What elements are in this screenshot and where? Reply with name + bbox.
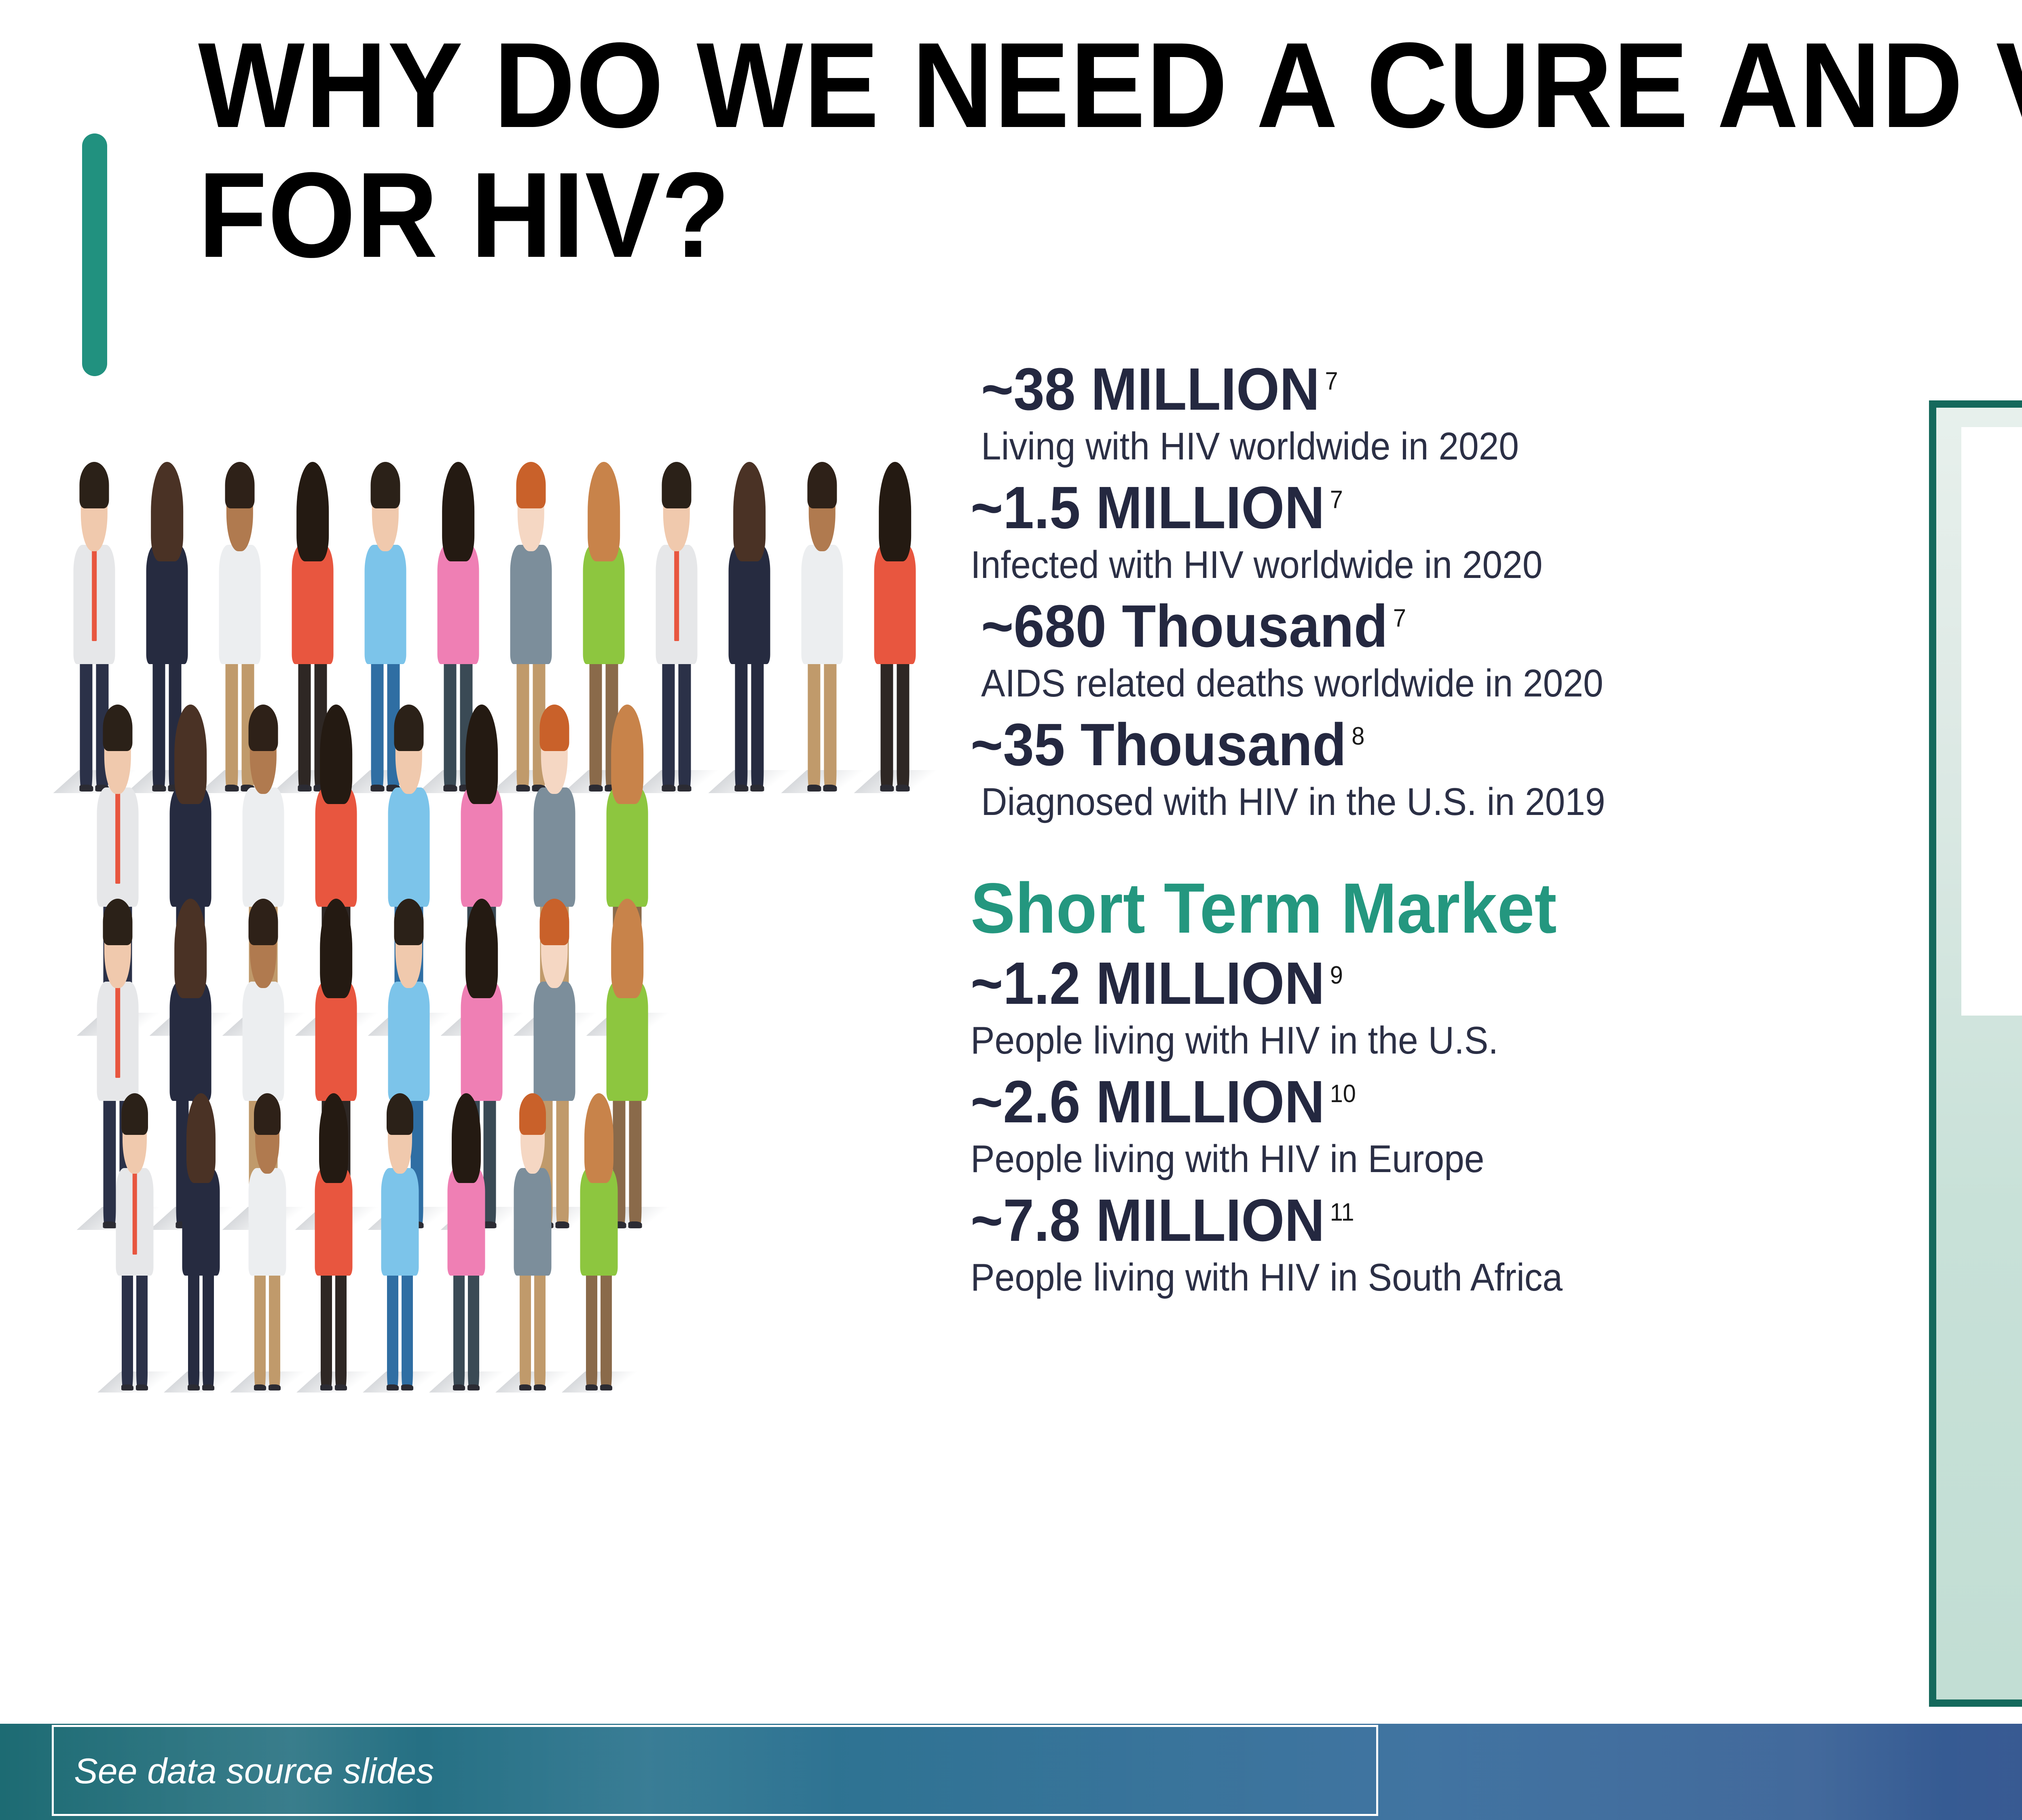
stat-caption: People living with HIV in the U.S. xyxy=(971,1017,1881,1064)
shoe xyxy=(453,1384,465,1390)
necktie xyxy=(115,985,120,1078)
stat-caption: AIDS related deaths worldwide in 2020 xyxy=(981,660,1881,707)
figure-torso xyxy=(249,1168,286,1276)
figure-legs xyxy=(121,1270,148,1389)
figure-torso xyxy=(510,545,552,664)
figure-torso xyxy=(381,1168,419,1276)
shoe xyxy=(121,1384,133,1390)
figure-hair xyxy=(394,899,423,945)
art-panel-caption: HIV can be controlled with antiretrovira… xyxy=(1985,1467,2022,1612)
stats-column: ~38 MILLION7 Living with HIV worldwide i… xyxy=(971,356,1949,1306)
figure-torso xyxy=(243,787,284,907)
footer-note-box: See data source slides xyxy=(52,1725,1378,1816)
figure-torso xyxy=(243,982,284,1101)
leg xyxy=(136,1270,148,1389)
figure-legs xyxy=(519,1270,546,1389)
stat-block-global-0: ~38 MILLION7 Living with HIV worldwide i… xyxy=(971,356,1949,470)
figure-hair xyxy=(452,1093,481,1183)
shoe xyxy=(678,785,692,791)
stat-caption: Living with HIV worldwide in 2020 xyxy=(981,423,1881,470)
person-figure xyxy=(861,465,929,797)
necktie xyxy=(133,1171,137,1255)
figure-hair xyxy=(465,705,498,804)
person-figure xyxy=(569,1096,629,1395)
figure-hair xyxy=(248,705,278,751)
shoe xyxy=(534,1384,546,1390)
leg xyxy=(269,1270,280,1389)
person-figure xyxy=(789,465,856,797)
shoe xyxy=(320,1384,332,1390)
shoe xyxy=(202,1384,214,1390)
shoe xyxy=(136,1384,148,1390)
figure-torso xyxy=(438,545,479,664)
figure-torso xyxy=(534,787,575,907)
shoe xyxy=(880,785,894,791)
figure-legs xyxy=(387,1270,413,1389)
leg xyxy=(808,658,821,790)
shoe xyxy=(823,785,837,791)
stat-reference-superscript: 7 xyxy=(1393,604,1406,632)
figure-legs xyxy=(586,1270,612,1389)
shoe xyxy=(387,1384,399,1390)
stat-caption: People living with HIV in South Africa xyxy=(971,1254,1881,1301)
leg xyxy=(387,1270,398,1389)
figure-hair xyxy=(611,899,643,998)
figure-torso xyxy=(583,545,625,664)
figure-torso xyxy=(729,545,770,664)
art-panel: ANTIRETROVIRAL THERAPY ART USES DIFFEREN… xyxy=(1929,400,2022,1707)
shoe xyxy=(188,1384,200,1390)
leg xyxy=(586,1270,597,1389)
shoe xyxy=(254,1384,266,1390)
stat-reference-superscript: 11 xyxy=(1330,1198,1354,1226)
title-accent-bar xyxy=(82,133,107,376)
stat-headline: ~35 Thousand8 xyxy=(971,711,1881,779)
figure-hair xyxy=(465,899,498,998)
figure-torso xyxy=(219,545,261,664)
figure-hair xyxy=(254,1093,281,1135)
necktie xyxy=(92,548,97,641)
stat-block-global-2: ~680 Thousand7 AIDS related deaths world… xyxy=(971,593,1949,707)
figure-torso xyxy=(607,787,648,907)
stat-headline: ~1.5 MILLION7 xyxy=(971,474,1881,542)
leg xyxy=(335,1270,347,1389)
people-illustration xyxy=(61,465,999,1347)
leg xyxy=(468,1270,479,1389)
figure-torso xyxy=(388,982,430,1101)
leg xyxy=(453,1270,465,1389)
figure-legs xyxy=(880,658,909,790)
footer-note: See data source slides xyxy=(74,1750,434,1792)
figure-hair xyxy=(103,899,132,945)
art-overlay-title: ANTIRETROVIRAL THERAPY xyxy=(2015,621,2022,659)
figure-torso xyxy=(514,1168,552,1276)
stat-reference-superscript: 7 xyxy=(1330,486,1343,514)
stat-reference-superscript: 7 xyxy=(1325,367,1338,395)
figure-torso xyxy=(802,545,843,664)
figure-torso xyxy=(534,982,575,1101)
person-figure xyxy=(303,1096,364,1395)
leg xyxy=(897,658,909,790)
medicine-bottle-icon xyxy=(2015,1136,2022,1386)
shoe xyxy=(269,1384,281,1390)
necktie xyxy=(115,791,120,884)
figure-hair xyxy=(662,462,691,508)
figure-torso xyxy=(461,982,503,1101)
art-overlay-text: ANTIRETROVIRAL THERAPY ART USES DIFFEREN… xyxy=(1961,621,2022,767)
shoe xyxy=(401,1384,413,1390)
figure-torso xyxy=(315,1168,353,1276)
leg xyxy=(520,1270,531,1389)
figure-torso xyxy=(365,545,406,664)
leg xyxy=(188,1270,199,1389)
figure-hair xyxy=(733,462,766,561)
figure-hair xyxy=(394,705,423,751)
shoe xyxy=(467,1384,480,1390)
person-figure xyxy=(436,1096,497,1395)
figure-torso xyxy=(580,1168,618,1276)
page-title: WHY DO WE NEED A CURE AND VACCINE FOR HI… xyxy=(198,20,2022,280)
shoe xyxy=(335,1384,347,1390)
stat-block-market-1: ~2.6 MILLION10 People living with HIV in… xyxy=(971,1069,1949,1182)
leg xyxy=(402,1270,413,1389)
figure-hair xyxy=(320,705,352,804)
leg xyxy=(735,658,748,790)
leg xyxy=(254,1270,266,1389)
leg xyxy=(122,1270,133,1389)
figure-hair xyxy=(79,462,109,508)
stat-headline: ~2.6 MILLION10 xyxy=(971,1069,1881,1136)
people-row xyxy=(104,1096,635,1395)
figure-torso xyxy=(461,787,503,907)
figure-torso xyxy=(182,1168,220,1276)
figure-legs xyxy=(453,1270,480,1389)
stat-caption: Infected with HIV worldwide in 2020 xyxy=(971,542,1881,588)
figure-hair xyxy=(320,899,352,998)
figure-hair xyxy=(174,705,207,804)
figure-hair xyxy=(296,462,329,561)
stat-block-global-1: ~1.5 MILLION7 Infected with HIV worldwid… xyxy=(971,474,1949,588)
figure-hair xyxy=(103,705,132,751)
shoe xyxy=(586,1384,598,1390)
figure-torso xyxy=(315,982,357,1101)
person-figure xyxy=(370,1096,430,1395)
figure-torso xyxy=(448,1168,485,1276)
leg xyxy=(321,1270,332,1389)
person-figure xyxy=(502,1096,563,1395)
figure-legs xyxy=(807,658,837,790)
short-term-market-heading: Short Term Market xyxy=(971,870,1891,948)
figure-hair xyxy=(174,899,207,998)
figure-hair xyxy=(319,1093,348,1183)
leg xyxy=(203,1270,214,1389)
figure-hair xyxy=(442,462,474,561)
stat-headline: ~1.2 MILLION9 xyxy=(971,950,1881,1017)
stat-block-market-0: ~1.2 MILLION9 People living with HIV in … xyxy=(971,950,1949,1064)
figure-hair xyxy=(186,1093,216,1183)
shoe xyxy=(896,785,910,791)
stat-reference-superscript: 9 xyxy=(1330,961,1343,989)
shoe xyxy=(734,785,748,791)
leg xyxy=(678,658,691,790)
figure-torso xyxy=(292,545,334,664)
antiretroviral-therapy-image: ANTIRETROVIRAL THERAPY ART USES DIFFEREN… xyxy=(1961,427,2022,1016)
art-overlay-subtitle: ART USES DIFFERENT KINDS OF MEDICATION T… xyxy=(2015,668,2022,767)
figure-hair xyxy=(807,462,837,508)
figure-hair xyxy=(539,705,569,751)
figure-torso xyxy=(874,545,916,664)
leg xyxy=(824,658,836,790)
stat-block-market-2: ~7.8 MILLION11 People living with HIV in… xyxy=(971,1187,1949,1301)
figure-hair xyxy=(370,462,400,508)
figure-hair xyxy=(121,1093,148,1135)
leg xyxy=(534,1270,546,1389)
figure-torso xyxy=(607,982,648,1101)
stat-headline: ~38 MILLION7 xyxy=(981,356,1881,423)
figure-torso xyxy=(170,982,212,1101)
shoe xyxy=(600,1384,612,1390)
stat-caption: Diagnosed with HIV in the U.S. in 2019 xyxy=(981,779,1881,825)
figure-hair xyxy=(225,462,254,508)
person-figure xyxy=(237,1096,298,1395)
stat-reference-superscript: 10 xyxy=(1330,1080,1356,1108)
figure-hair xyxy=(611,705,643,804)
stat-reference-superscript: 8 xyxy=(1352,722,1364,750)
person-figure xyxy=(716,465,783,797)
figure-torso xyxy=(315,787,357,907)
figure-hair xyxy=(584,1093,613,1183)
figure-torso xyxy=(146,545,188,664)
shoe xyxy=(807,785,821,791)
figure-legs xyxy=(734,658,764,790)
shoe xyxy=(751,785,764,791)
figure-hair xyxy=(248,899,278,945)
stat-caption: People living with HIV in Europe xyxy=(971,1136,1881,1182)
necktie xyxy=(674,548,679,641)
figure-hair xyxy=(519,1093,546,1135)
figure-hair xyxy=(588,462,620,561)
stat-headline: ~680 Thousand7 xyxy=(981,593,1881,660)
figure-legs xyxy=(254,1270,281,1389)
leg xyxy=(751,658,764,790)
figure-legs xyxy=(188,1270,214,1389)
figure-hair xyxy=(516,462,546,508)
figure-torso xyxy=(388,787,430,907)
stat-block-global-3: ~35 Thousand8 Diagnosed with HIV in the … xyxy=(971,711,1949,825)
figure-hair xyxy=(879,462,911,561)
figure-torso xyxy=(170,787,212,907)
figure-hair xyxy=(151,462,183,561)
stat-headline: ~7.8 MILLION11 xyxy=(971,1187,1881,1254)
leg xyxy=(881,658,893,790)
person-figure xyxy=(104,1096,165,1395)
figure-legs xyxy=(320,1270,347,1389)
figure-hair xyxy=(387,1093,413,1135)
figure-hair xyxy=(539,899,569,945)
leg xyxy=(601,1270,612,1389)
person-figure xyxy=(171,1096,231,1395)
shoe xyxy=(519,1384,531,1390)
slide-root: WHY DO WE NEED A CURE AND VACCINE FOR HI… xyxy=(0,0,2022,1820)
